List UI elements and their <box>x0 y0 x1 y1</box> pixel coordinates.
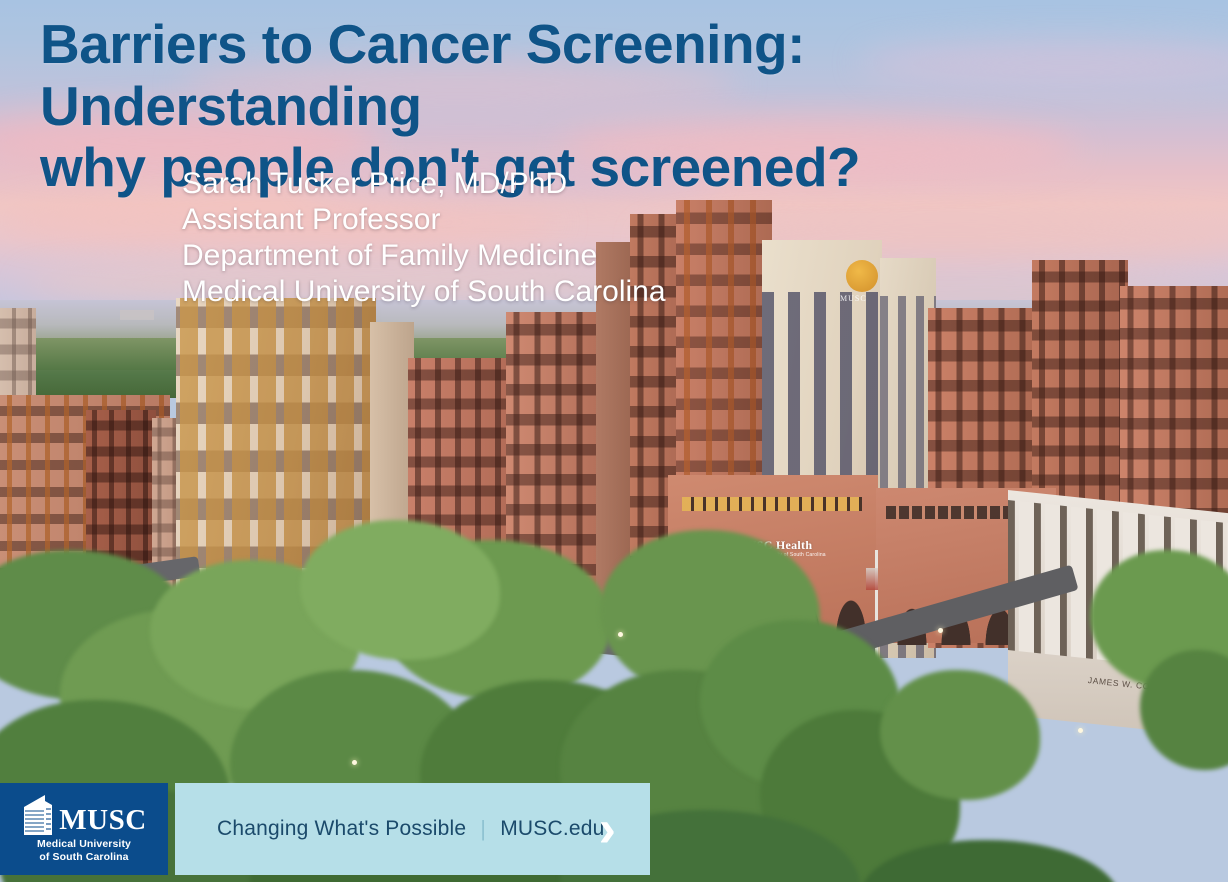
author-department: Department of Family Medicine <box>182 238 802 274</box>
author-role: Assistant Professor <box>182 202 802 238</box>
musc-building-icon <box>21 795 55 835</box>
author-block: Sarah Tucker Price, MD/PhD Assistant Pro… <box>182 166 802 310</box>
musc-logo-block: MUSC Medical University of South Carolin… <box>0 783 168 875</box>
musc-sun-logo-icon <box>846 260 878 292</box>
author-name: Sarah Tucker Price, MD/PhD <box>182 166 802 202</box>
musc-subtitle-line-1: Medical University <box>14 838 154 851</box>
musc-wordmark: MUSC <box>59 807 146 835</box>
chevron-right-icon[interactable]: › <box>599 803 616 855</box>
slide-title-line-1: Barriers to Cancer Screening: Understand… <box>40 14 1200 137</box>
tagline-slogan: Changing What's Possible <box>217 817 466 841</box>
musc-subtitle-line-2: of South Carolina <box>14 851 154 864</box>
author-institution: Medical University of South Carolina <box>182 274 802 310</box>
presentation-slide: MUSC MUSC Health Medical Uni <box>0 0 1228 882</box>
tagline-bar[interactable]: Changing What's Possible | MUSC.edu › <box>175 783 650 875</box>
tagline-url[interactable]: MUSC.edu <box>500 817 604 841</box>
tagline-divider: | <box>480 816 486 842</box>
